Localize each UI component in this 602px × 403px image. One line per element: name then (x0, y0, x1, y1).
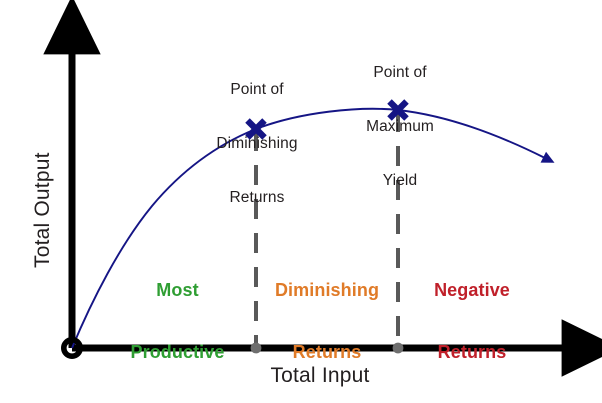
chart-canvas: Point of Diminishing Returns Point of Ma… (0, 0, 602, 403)
zone-diminishing-line-2: Returns (263, 342, 391, 363)
zone-most-productive-line-1: Most (105, 280, 250, 301)
zone-most-productive-line-2: Productive (105, 342, 250, 363)
annotation-maximum-line-2: Maximum (320, 118, 480, 136)
divider-foot-dot-diminishing (251, 343, 262, 354)
zone-diminishing-line-1: Diminishing (263, 280, 391, 301)
annotation-diminishing-returns: Point of Diminishing Returns (177, 45, 337, 243)
y-axis-title: Total Output (31, 110, 55, 310)
zone-label-negative-returns: Negative Returns (412, 238, 532, 403)
annotation-maximum-line-3: Yield (320, 172, 480, 190)
annotation-maximum-line-1: Point of (320, 64, 480, 82)
annotation-diminishing-line-1: Point of (177, 81, 337, 99)
divider-foot-dot-maximum (393, 343, 404, 354)
zone-negative-line-1: Negative (412, 280, 532, 301)
annotation-diminishing-line-2: Diminishing (177, 135, 337, 153)
zone-negative-line-2: Returns (412, 342, 532, 363)
zone-label-most-productive: Most Productive (105, 238, 250, 403)
x-axis-title: Total Input (235, 364, 405, 388)
annotation-diminishing-line-3: Returns (177, 189, 337, 207)
annotation-maximum-yield: Point of Maximum Yield (320, 28, 480, 226)
